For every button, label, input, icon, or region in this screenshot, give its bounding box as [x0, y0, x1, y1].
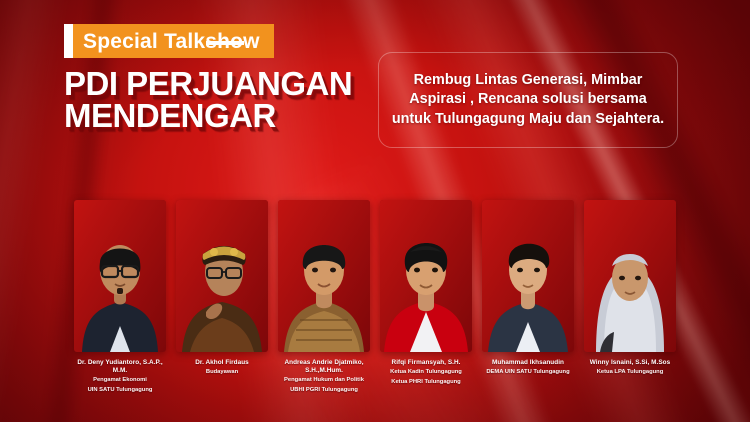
quote-text: Rembug Lintas Generasi, Mimbar Aspirasi … [389, 71, 667, 128]
speakers-row: Dr. Deny Yudiantoro, S.A.P., M.M. Pengam… [0, 200, 750, 394]
speaker-caption: Muhammad Ikhsanudin DEMA UIN SATU Tulung… [482, 359, 574, 377]
portrait-muhammad-ikhsanudin [482, 200, 574, 352]
speaker-card: Muhammad Ikhsanudin DEMA UIN SATU Tulung… [482, 200, 574, 394]
quote-card: Rembug Lintas Generasi, Mimbar Aspirasi … [378, 52, 678, 148]
speaker-card: Rifqi Firmansyah, S.H. Ketua Kadin Tulun… [380, 200, 472, 394]
page-title: PDI PERJUANGAN MENDENGAR [64, 68, 364, 133]
speaker-name: Dr. Akhol Firdaus [176, 359, 268, 367]
speaker-card: Dr. Deny Yudiantoro, S.A.P., M.M. Pengam… [74, 200, 166, 394]
portrait-deny-yudiantoro [74, 200, 166, 352]
speaker-name: Rifqi Firmansyah, S.H. [380, 359, 472, 367]
speaker-caption: Dr. Deny Yudiantoro, S.A.P., M.M. Pengam… [74, 359, 166, 394]
speaker-name: Muhammad Ikhsanudin [482, 359, 574, 367]
portrait-akhol-firdaus [176, 200, 268, 352]
speaker-name: Dr. Deny Yudiantoro, S.A.P., M.M. [74, 359, 166, 375]
speaker-caption: Winny Isnaini, S.Si, M.Sos Ketua LPA Tul… [584, 359, 676, 377]
portrait-winny-isnaini [584, 200, 676, 352]
speaker-card: Dr. Akhol Firdaus Budayawan [176, 200, 268, 394]
speaker-caption: Andreas Andrie Djatmiko, S.H.,M.Hum. Pen… [278, 359, 370, 394]
promotional-banner: Special Talkshow PDI PERJUANGAN MENDENGA… [0, 0, 750, 422]
speaker-caption: Rifqi Firmansyah, S.H. Ketua Kadin Tulun… [380, 359, 472, 386]
speaker-caption: Dr. Akhol Firdaus Budayawan [176, 359, 268, 377]
speaker-role-2: UBHI PGRI Tulungagung [278, 387, 370, 395]
speaker-role-2: Ketua PHRI Tulungagung [380, 379, 472, 387]
title-line-2: MENDENGAR [64, 100, 364, 132]
speaker-role-1: Budayawan [176, 369, 268, 377]
speaker-role-2: UIN SATU Tulungagung [74, 387, 166, 395]
speaker-role-1: Pengamat Ekonomi [74, 377, 166, 385]
badge-accent-tick [64, 24, 73, 58]
speaker-name: Winny Isnaini, S.Si, M.Sos [584, 359, 676, 367]
speaker-card: Winny Isnaini, S.Si, M.Sos Ketua LPA Tul… [584, 200, 676, 394]
speaker-role-1: Ketua Kadin Tulungagung [380, 369, 472, 377]
speaker-role-1: Ketua LPA Tulungagung [584, 369, 676, 377]
portrait-andreas-andrie-djatmiko [278, 200, 370, 352]
speaker-name: Andreas Andrie Djatmiko, S.H.,M.Hum. [278, 359, 370, 375]
speaker-card: Andreas Andrie Djatmiko, S.H.,M.Hum. Pen… [278, 200, 370, 394]
portrait-rifqi-firmansyah [380, 200, 472, 352]
title-dash-accent [206, 41, 244, 45]
speaker-role-1: Pengamat Hukum dan Politik [278, 377, 370, 385]
speaker-role-1: DEMA UIN SATU Tulungagung [482, 369, 574, 377]
